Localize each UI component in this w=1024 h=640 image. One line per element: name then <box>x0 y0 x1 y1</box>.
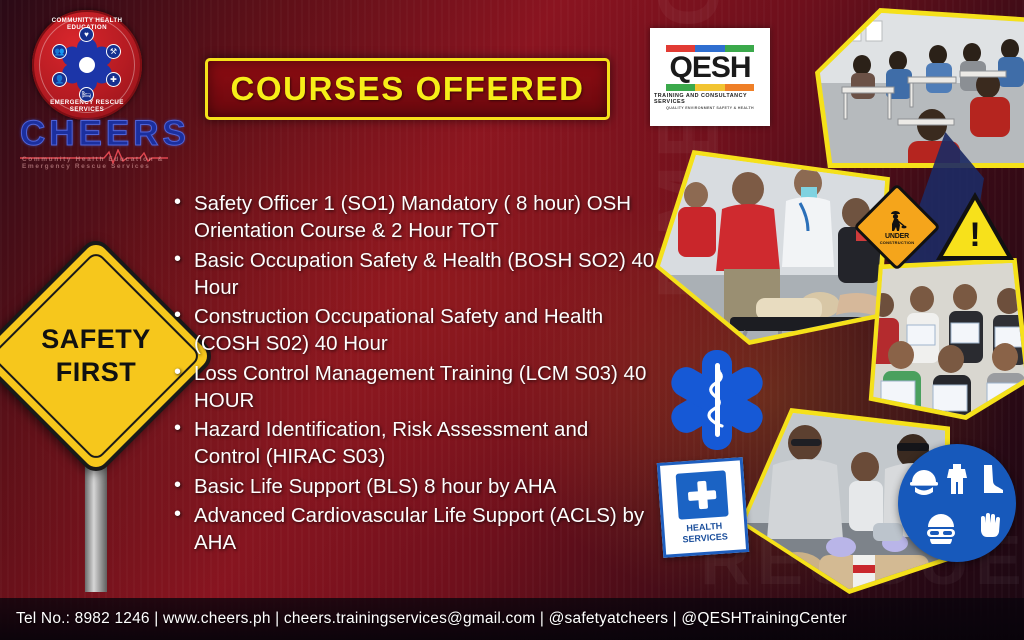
health-services-label: HEALTH SERVICES <box>681 521 728 545</box>
ppe-requirements-icon <box>898 444 1016 562</box>
safety-gloves-icon <box>975 512 1005 544</box>
list-item: Safety Officer 1 (SO1) Mandatory ( 8 hou… <box>170 190 660 245</box>
star-of-life-icon <box>662 345 772 455</box>
list-item: Basic Life Support (BLS) 8 hour by AHA <box>170 473 660 500</box>
photo-medical-emergency-drill <box>655 150 890 345</box>
poster-canvas: EMERGENCY RESCUE COMMUNITY HEALTH EDUCAT… <box>0 0 1024 640</box>
list-item: Construction Occupational Safety and Hea… <box>170 303 660 358</box>
courses-ul: Safety Officer 1 (SO1) Mandatory ( 8 hou… <box>170 190 660 556</box>
warning-triangle-icon: ! <box>936 192 1014 262</box>
safety-first-sign: SAFETY FIRST <box>8 262 183 592</box>
seal-icon-training: 👤 <box>52 72 67 87</box>
photo-image <box>660 155 885 340</box>
snake-glyph <box>706 367 728 433</box>
sign-line-2: FIRST <box>56 356 137 389</box>
worker-glyph <box>887 210 907 232</box>
list-item: Advanced Cardiovascular Life Support (AC… <box>170 502 660 557</box>
safety-goggles-icon <box>926 512 956 544</box>
seal-icon-stretcher: 🛏 <box>79 87 94 102</box>
under-construction-label-2: CONSTRUCTION <box>880 240 915 245</box>
warning-exclamation: ! <box>969 218 980 252</box>
seal-star-of-life-icon: ♥ 👥 ⚒ 👤 ✚ 🛏 <box>54 32 120 98</box>
photo-classroom-training <box>815 8 1024 168</box>
medical-cross-icon <box>687 480 717 510</box>
courses-list: Safety Officer 1 (SO1) Mandatory ( 8 hou… <box>170 190 660 558</box>
photo-image <box>820 13 1024 163</box>
cheers-wordmark-text: CHEERS <box>20 116 170 151</box>
courses-offered-banner: COURSES OFFERED <box>205 58 610 120</box>
safety-boot-icon <box>975 463 1005 495</box>
seal-icon-people: 👥 <box>52 44 67 59</box>
list-item: Hazard Identification, Risk Assessment a… <box>170 416 660 471</box>
seal-icon-ecg: ♥ <box>79 27 94 42</box>
coveralls-icon <box>942 463 972 495</box>
page-title: COURSES OFFERED <box>230 70 584 108</box>
cheers-tagline: Community Health Education & Emergency R… <box>22 156 170 170</box>
seal-icon-rescue: ⚒ <box>106 44 121 59</box>
cheers-wordmark: CHEERS Community Health Education & Emer… <box>20 116 170 162</box>
list-item: Basic Occupation Safety & Health (BOSH S… <box>170 247 660 302</box>
health-cross-box <box>676 470 729 519</box>
sign-line-1: SAFETY <box>41 323 151 356</box>
photo-certificate-graduates <box>862 258 1024 420</box>
cheers-logo: COMMUNITY HEALTH EDUCATION EMERGENCY RES… <box>14 8 174 163</box>
sign-text-block: SAFETY FIRST <box>10 270 182 442</box>
under-construction-sign-icon: UNDER CONSTRUCTION <box>866 196 928 258</box>
seal-icon-firstaid: ✚ <box>106 72 121 87</box>
contact-footer: Tel No.: 8982 1246 | www.cheers.ph | che… <box>0 598 1024 640</box>
photo-collage: UNDER CONSTRUCTION ! HEALTH <box>640 0 1024 600</box>
cheers-seal-icon: COMMUNITY HEALTH EDUCATION EMERGENCY RES… <box>32 10 142 120</box>
footer-contact-text: Tel No.: 8982 1246 | www.cheers.ph | che… <box>0 610 847 628</box>
photo-image <box>867 263 1024 415</box>
under-construction-label: UNDER <box>885 233 909 240</box>
hard-hat-icon <box>909 463 939 495</box>
list-item: Loss Control Management Training (LCM S0… <box>170 360 660 415</box>
health-services-sign-icon: HEALTH SERVICES <box>657 457 749 558</box>
